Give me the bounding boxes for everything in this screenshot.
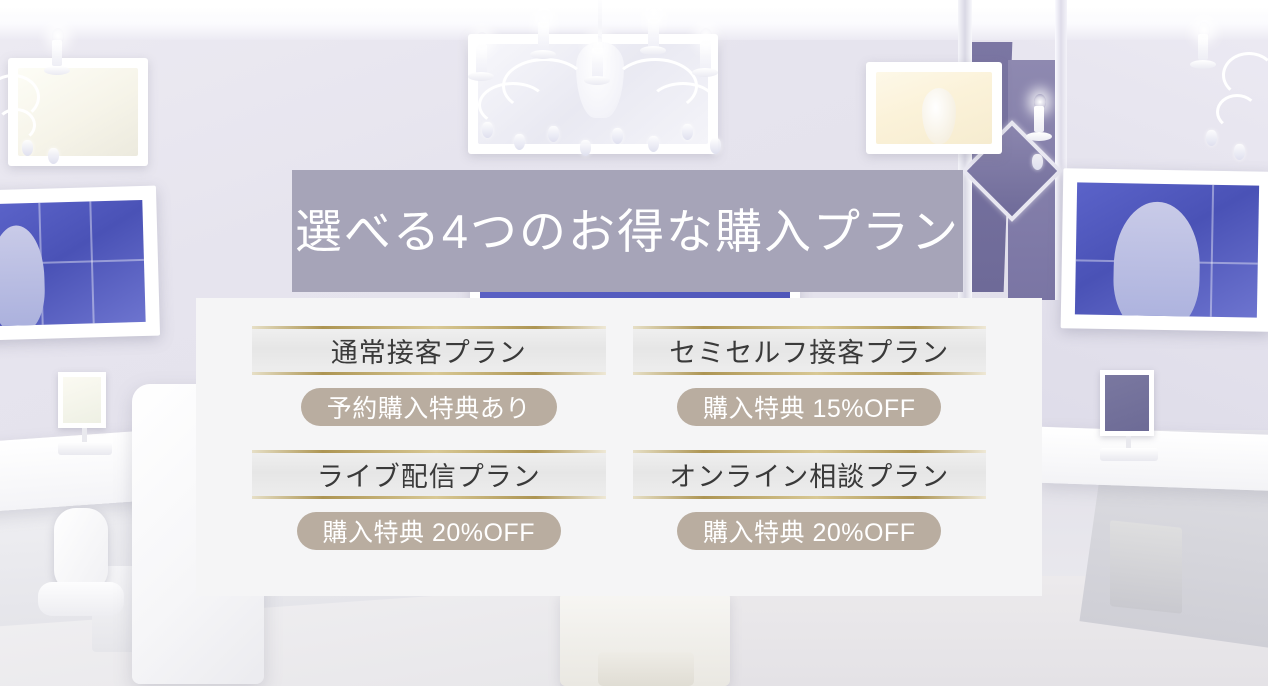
chandelier	[452, 0, 752, 176]
table-mirror-left	[50, 372, 120, 458]
plan-badge-1: 予約購入特典あり	[301, 388, 557, 426]
plan-card-1[interactable]: 通常接客プラン 予約購入特典あり	[252, 326, 606, 450]
page-title: 選べる4つのお得な購入プラン	[295, 208, 960, 255]
wall-sconce-mid-right	[1010, 96, 1070, 216]
framed-mirror-right	[866, 62, 1002, 154]
plans-panel: 通常接客プラン 予約購入特典あり セミセルフ接客プラン 購入特典 15%OFF …	[196, 298, 1042, 596]
plan-card-2[interactable]: セミセルフ接客プラン 購入特典 15%OFF	[633, 326, 987, 450]
plan-title-3: ライブ配信プラン	[317, 455, 541, 494]
under-counter-bag	[1110, 520, 1182, 614]
plan-header-1: 通常接客プラン	[252, 326, 606, 375]
framed-screen-left	[0, 186, 160, 341]
plan-badge-2: 購入特典 15%OFF	[677, 388, 941, 426]
plan-card-4[interactable]: オンライン相談プラン 購入特典 20%OFF	[633, 450, 987, 574]
plan-header-3: ライブ配信プラン	[252, 450, 606, 499]
promo-banner: 選べる4つのお得な購入プラン 通常接客プラン 予約購入特典あり セミセルフ接客プ…	[0, 0, 1268, 686]
stool-foot	[598, 652, 694, 686]
vase	[922, 88, 956, 144]
plan-card-3[interactable]: ライブ配信プラン 購入特典 20%OFF	[252, 450, 606, 574]
hero-title-band: 選べる4つのお得な購入プラン	[292, 170, 963, 292]
plan-header-4: オンライン相談プラン	[633, 450, 987, 499]
salon-chair	[38, 508, 122, 628]
framed-screen-right	[1061, 168, 1268, 332]
plan-badge-3: 購入特典 20%OFF	[297, 512, 561, 550]
plans-grid: 通常接客プラン 予約購入特典あり セミセルフ接客プラン 購入特典 15%OFF …	[196, 298, 1042, 596]
plan-title-1: 通常接客プラン	[331, 331, 527, 370]
plan-title-2: セミセルフ接客プラン	[669, 331, 949, 370]
plan-title-4: オンライン相談プラン	[669, 455, 949, 494]
table-mirror-right	[1094, 370, 1174, 464]
plan-badge-4: 購入特典 20%OFF	[677, 512, 941, 550]
plan-header-2: セミセルフ接客プラン	[633, 326, 987, 375]
wall-sconce-right	[1186, 18, 1268, 178]
wall-sconce-left	[0, 26, 90, 166]
